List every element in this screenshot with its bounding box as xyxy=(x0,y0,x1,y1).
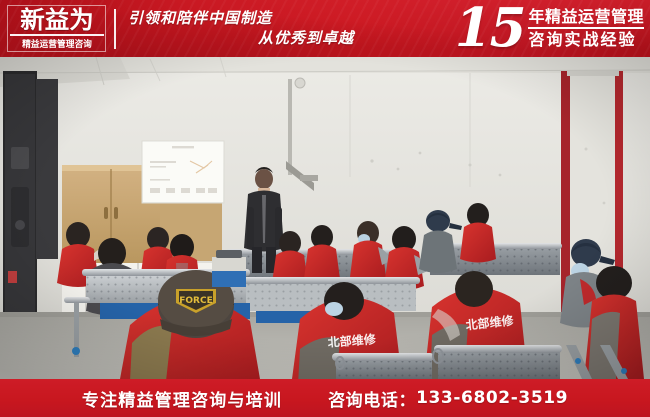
photo-illustration: FORCE 北部维修 北部维修 xyxy=(0,57,650,379)
years-line-2: 咨询实战经验 xyxy=(528,31,644,49)
poster-header: 新益为 精益运营管理咨询 引领和陪伴中国制造 从优秀到卓越 15 年精益运营管理… xyxy=(0,0,650,57)
years-text-block: 年精益运营管理 咨询实战经验 xyxy=(528,8,644,50)
training-room-photo: FORCE 北部维修 北部维修 xyxy=(0,57,650,379)
footer-phone-number: 133-6802-3519 xyxy=(416,388,568,408)
footer-phone-label: 咨询电话： xyxy=(328,386,416,411)
logo-divider-rule xyxy=(10,34,104,36)
logo-tagline: 精益运营管理咨询 xyxy=(11,37,102,50)
promo-poster: 新益为 精益运营管理咨询 引领和陪伴中国制造 从优秀到卓越 15 年精益运营管理… xyxy=(0,0,650,417)
years-line-1: 年精益运营管理 xyxy=(528,8,644,26)
header-vertical-divider xyxy=(114,9,116,49)
years-number: 15 xyxy=(455,6,525,52)
header-slogan: 引领和陪伴中国制造 从优秀到卓越 xyxy=(126,9,380,47)
footer-contact: 咨询电话： 133-6802-3519 xyxy=(328,386,568,411)
company-logo: 新益为 精益运营管理咨询 xyxy=(0,0,112,57)
years-divider-rule xyxy=(528,27,644,29)
poster-footer: 专注精益管理咨询与培训 咨询电话： 133-6802-3519 xyxy=(0,379,650,417)
footer-slogan: 专注精益管理咨询与培训 xyxy=(82,386,282,411)
slogan-line-1: 引领和陪伴中国制造 xyxy=(126,10,380,28)
slogan-line-2: 从优秀到卓越 xyxy=(126,30,380,48)
experience-badge: 15 年精益运营管理 咨询实战经验 xyxy=(380,6,650,52)
logo-name: 新益为 xyxy=(9,8,105,32)
